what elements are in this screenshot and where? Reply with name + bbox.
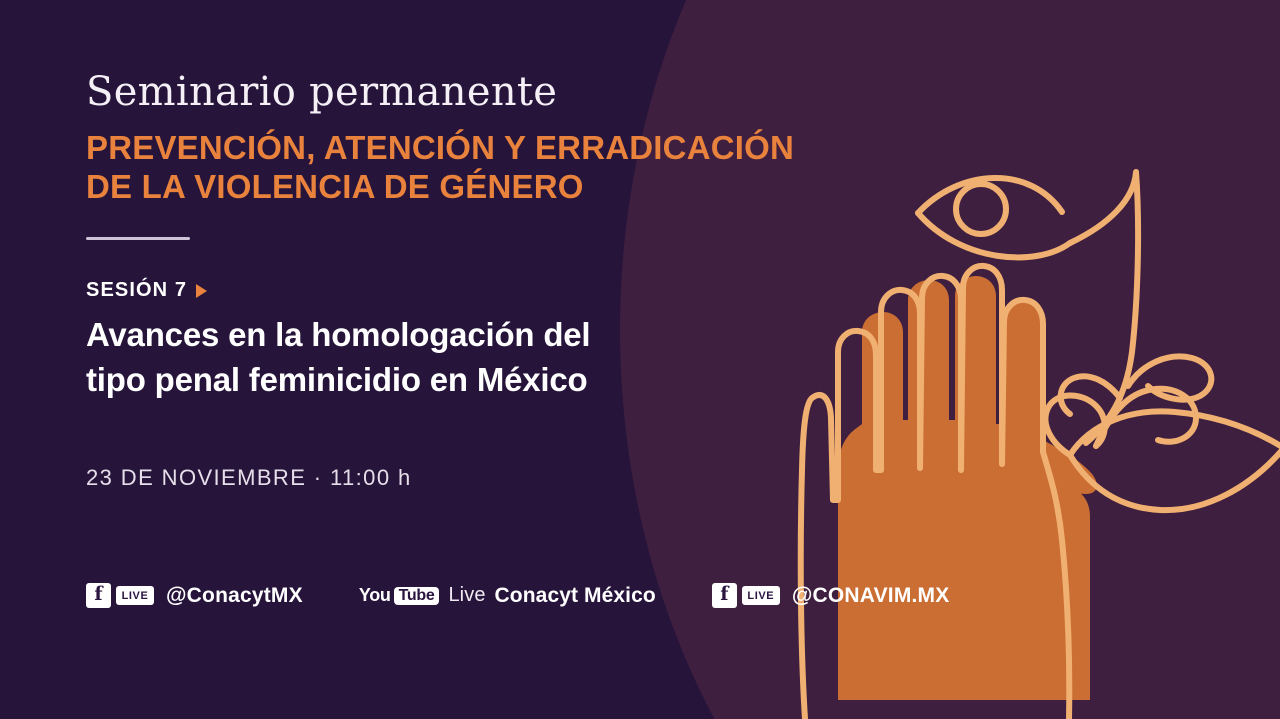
session-title-line-1: Avances en la homologación del — [86, 312, 590, 357]
date-time: 23 DE NOVIEMBRE · 11:00 h — [86, 465, 412, 491]
poster-headline: PREVENCIÓN, ATENCIÓN Y ERRADICACIÓN DE L… — [86, 128, 794, 206]
session-title-line-2: tipo penal feminicidio en México — [86, 357, 590, 402]
youtube-logo-tube: Tube — [394, 587, 440, 605]
facebook-conacyt-handle: @ConacytMX — [166, 584, 303, 608]
session-row: SESIÓN 7 — [86, 279, 207, 302]
session-label: SESIÓN 7 — [86, 279, 187, 302]
headline-line-2: DE LA VIOLENCIA DE GÉNERO — [86, 167, 794, 206]
facebook-conavim-handle: @CONAVIM.MX — [792, 584, 950, 608]
play-triangle-icon — [196, 284, 207, 298]
session-title: Avances en la homologación del tipo pena… — [86, 312, 590, 402]
youtube-icon: You Tube — [359, 585, 440, 606]
facebook-icon: f — [712, 583, 737, 608]
youtube-live-label: Live — [448, 584, 485, 607]
social-youtube-conacyt[interactable]: You Tube Live Conacyt México — [359, 584, 656, 608]
divider-rule — [86, 237, 190, 240]
social-bar: f LIVE @ConacytMX You Tube Live Conacyt … — [86, 583, 949, 608]
youtube-logo-you: You — [359, 585, 391, 606]
facebook-icon: f — [86, 583, 111, 608]
headline-line-1: PREVENCIÓN, ATENCIÓN Y ERRADICACIÓN — [86, 128, 794, 167]
poster-text-block: Seminario permanente PREVENCIÓN, ATENCIÓ… — [0, 0, 760, 719]
poster-kicker: Seminario permanente — [86, 68, 557, 116]
social-facebook-conacyt[interactable]: f LIVE @ConacytMX — [86, 583, 303, 608]
youtube-channel-name: Conacyt México — [495, 584, 656, 608]
social-facebook-conavim[interactable]: f LIVE @CONAVIM.MX — [712, 583, 950, 608]
facebook-live-badge: LIVE — [742, 586, 780, 605]
facebook-live-badge: LIVE — [116, 586, 154, 605]
poster-canvas: Seminario permanente PREVENCIÓN, ATENCIÓ… — [0, 0, 1280, 719]
